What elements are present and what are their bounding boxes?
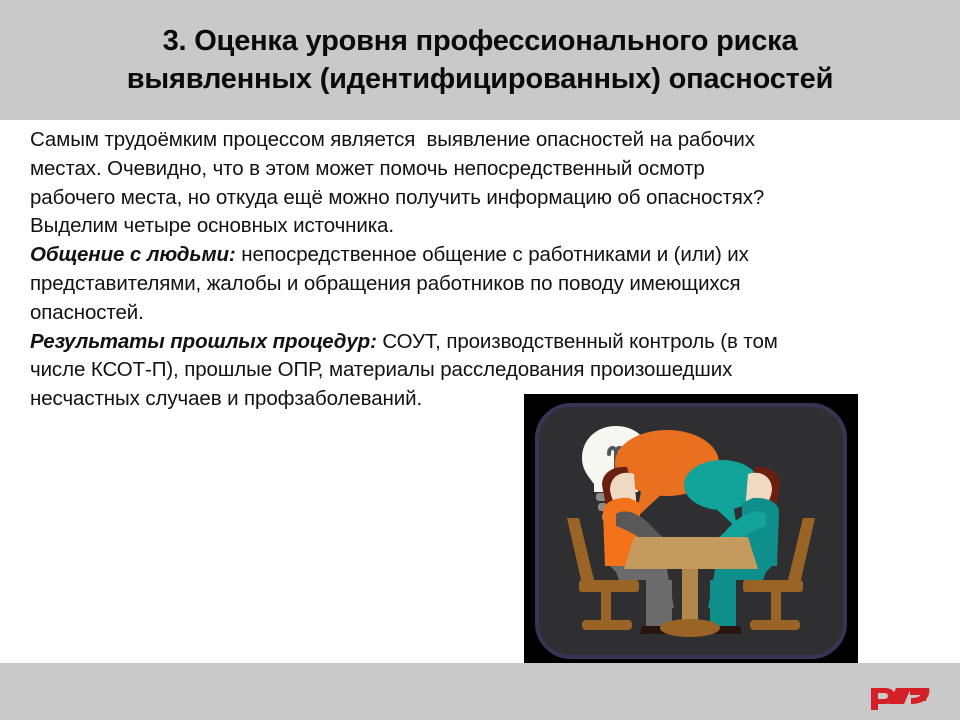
body-line: Общение с людьми: непосредственное общен… [30,241,930,270]
body-line: Результаты прошлых процедур: СОУТ, произ… [30,328,930,357]
body-line-text: Выделим четыре основных источника. [30,214,394,237]
body-line: числе КСОТ-П), прошлые ОПР, материалы ра… [30,356,930,385]
page-title-line-2: выявленных (идентифицированных) опасност… [20,60,940,98]
body-line-lead: Общение с людьми: [30,243,236,266]
body-line-text: Самым трудоёмким процессом является выяв… [30,128,755,151]
slide-title-band: 3. Оценка уровня профессионального риска… [0,0,960,120]
slide-footer-band [0,663,960,720]
body-line-text: СОУТ, производственный контроль (в том [377,330,778,353]
body-line-text: опасностей. [30,301,144,324]
body-line-text: непосредственное общение с работниками и… [236,243,749,266]
body-line: опасностей. [30,299,930,328]
body-line: представителями, жалобы и обращения рабо… [30,270,930,299]
page-title: 3. Оценка уровня профессионального риска… [20,22,940,98]
body-line-lead: Результаты прошлых процедур: [30,330,377,353]
body-line-text: представителями, жалобы и обращения рабо… [30,272,741,295]
rzd-logo-mark [871,688,929,710]
discussion-illustration-svg [524,394,858,664]
body-line-text: местах. Очевидно, что в этом может помоч… [30,157,705,180]
body-line: рабочего места, но откуда ещё можно полу… [30,184,930,213]
discussion-illustration [524,394,858,664]
body-line: Выделим четыре основных источника. [30,212,930,241]
slide-body-text: Самым трудоёмким процессом является выяв… [30,126,930,414]
body-line: местах. Очевидно, что в этом может помоч… [30,155,930,184]
rzd-logo [870,684,932,710]
body-line: Самым трудоёмким процессом является выяв… [30,126,930,155]
body-line-text: числе КСОТ-П), прошлые ОПР, материалы ра… [30,358,732,381]
body-line-text: рабочего места, но откуда ещё можно полу… [30,186,764,209]
page-title-line-1: 3. Оценка уровня профессионального риска [20,22,940,60]
body-line-text: несчастных случаев и профзаболеваний. [30,387,422,410]
